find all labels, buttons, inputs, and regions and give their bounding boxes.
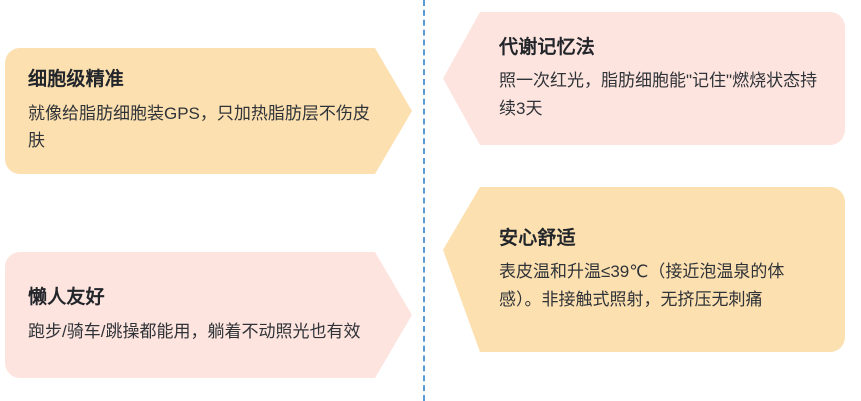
feature-card-body: 就像给脂肪细胞装GPS，只加热脂肪层不伤皮肤 <box>28 100 372 155</box>
feature-card-title: 懒人友好 <box>28 285 372 311</box>
feature-card-body: 跑步/骑车/跳操都能用，躺着不动照光也有效 <box>28 318 372 346</box>
feature-card-comfort[interactable]: 安心舒适 表皮温和升温≤39℃（接近泡温泉的体感）。非接触式照射，无挤压无刺痛 <box>443 187 845 352</box>
feature-card-body: 照一次红光，脂肪细胞能"记住"燃烧状态持续3天 <box>499 67 819 122</box>
feature-card-title: 细胞级精准 <box>28 67 372 93</box>
feature-card-lazy[interactable]: 懒人友好 跑步/骑车/跳操都能用，躺着不动照光也有效 <box>5 252 412 378</box>
feature-card-body: 表皮温和升温≤39℃（接近泡温泉的体感）。非接触式照射，无挤压无刺痛 <box>499 258 819 313</box>
feature-card-precision[interactable]: 细胞级精准 就像给脂肪细胞装GPS，只加热脂肪层不伤皮肤 <box>5 48 412 174</box>
feature-card-title: 代谢记忆法 <box>499 35 819 61</box>
infographic-canvas: 细胞级精准 就像给脂肪细胞装GPS，只加热脂肪层不伤皮肤 代谢记忆法 照一次红光… <box>0 0 861 401</box>
feature-card-title: 安心舒适 <box>499 226 819 252</box>
feature-card-memory[interactable]: 代谢记忆法 照一次红光，脂肪细胞能"记住"燃烧状态持续3天 <box>443 12 845 145</box>
vertical-dashed-divider <box>423 0 425 401</box>
